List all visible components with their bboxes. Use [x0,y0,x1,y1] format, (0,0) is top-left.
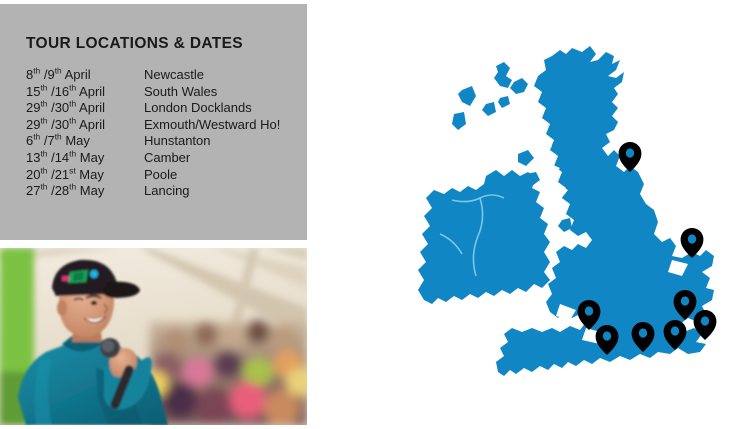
tour-date-row: 6th /7th MayHunstanton [26,133,288,150]
tour-date-cell: 29th /30th April [26,100,144,117]
tour-date-cell: 13th /14th May [26,150,144,167]
ordinal-suffix: th [40,165,47,175]
tour-location-cell: London Docklands [144,100,288,117]
tour-date-row: 29th /30th AprilExmouth/Westward Ho! [26,117,288,134]
tour-location-cell: Hunstanton [144,133,288,150]
tour-date-cell: 29th /30th April [26,117,144,134]
tour-date-cell: 6th /7th May [26,133,144,150]
ordinal-suffix: th [33,66,40,76]
tour-schedule-body: 8th /9th AprilNewcastle15th /16th AprilS… [26,67,288,200]
ordinal-suffix: th [55,66,62,76]
ordinal-suffix: th [69,182,76,192]
tour-date-cell: 20th /21st May [26,167,144,184]
ordinal-suffix: th [33,132,40,142]
tour-date-cell: 8th /9th April [26,67,144,84]
tour-date-row: 20th /21st MayPoole [26,167,288,184]
tour-location-cell: South Wales [144,84,288,101]
tour-event-photo [0,248,307,425]
tour-date-row: 29th /30th AprilLondon Docklands [26,100,288,117]
ordinal-suffix: th [55,132,62,142]
ordinal-suffix: th [40,149,47,159]
left-column: TOUR LOCATIONS & DATES 8th /9th AprilNew… [0,4,307,425]
ordinal-suffix: th [69,99,76,109]
ordinal-suffix: th [40,115,47,125]
uk-ireland-tour-map: NewcastleHunstantonSouth WalesLondon Doc… [400,22,744,418]
ordinal-suffix: th [69,115,76,125]
ordinal-suffix: st [69,165,76,175]
tour-date-cell: 27th /28th May [26,183,144,200]
page-title: TOUR LOCATIONS & DATES [26,35,243,53]
tour-date-cell: 15th /16th April [26,84,144,101]
tour-location-cell: Camber [144,150,288,167]
tour-location-cell: Lancing [144,183,288,200]
ordinal-suffix: th [40,182,47,192]
tour-schedule-table: 8th /9th AprilNewcastle15th /16th AprilS… [26,67,288,200]
tour-location-cell: Newcastle [144,67,288,84]
ordinal-suffix: th [69,82,76,92]
tour-date-row: 13th /14th MayCamber [26,150,288,167]
tour-date-row: 15th /16th AprilSouth Wales [26,84,288,101]
tour-location-cell: Exmouth/Westward Ho! [144,117,288,134]
ordinal-suffix: th [40,82,47,92]
tour-date-row: 8th /9th AprilNewcastle [26,67,288,84]
tour-location-cell: Poole [144,167,288,184]
tour-date-row: 27th /28th MayLancing [26,183,288,200]
ordinal-suffix: th [40,99,47,109]
tour-info-panel: TOUR LOCATIONS & DATES 8th /9th AprilNew… [0,4,307,240]
ordinal-suffix: th [69,149,76,159]
